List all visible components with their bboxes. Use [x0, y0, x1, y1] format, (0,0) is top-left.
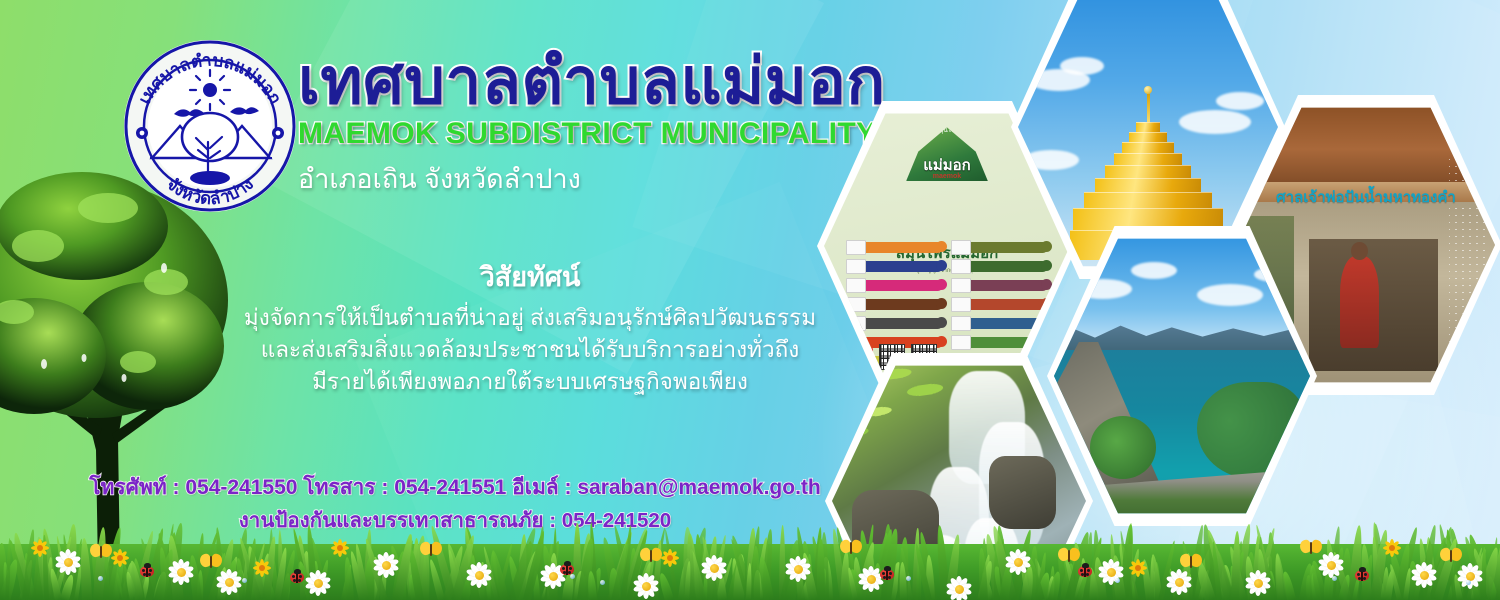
- grass-blade: [752, 546, 760, 600]
- daisy-core: [177, 568, 186, 577]
- daisy-core: [794, 565, 803, 574]
- yellow-flower-core: [259, 565, 265, 571]
- pagoda-caption-line2: บ้านทุ่: [1240, 4, 1268, 15]
- daisy-flower: [696, 550, 732, 586]
- ladybug-spot: [1364, 573, 1367, 576]
- daisy-flower: [631, 571, 661, 600]
- poster-brand-sub: maemok: [933, 173, 961, 180]
- ladybug-spot: [149, 569, 152, 572]
- daisy-core: [225, 578, 234, 587]
- daisy-core: [1175, 578, 1184, 587]
- ladybug-spot: [1363, 577, 1366, 580]
- dew-drop: [242, 578, 247, 583]
- daisy-flower: [786, 557, 810, 581]
- ladybug-icon: [1078, 566, 1092, 577]
- ladybug-icon: [290, 572, 304, 583]
- ladybug-spot: [888, 576, 891, 579]
- municipality-banner: เทศบาลตำบลแม่มอก จังหวัดลำปาง เทศบาลตำบล…: [0, 0, 1500, 600]
- dew-drop: [1466, 580, 1471, 585]
- butterfly-body: [650, 550, 652, 562]
- ladybug-icon: [880, 569, 894, 580]
- daisy-flower: [1246, 571, 1270, 595]
- ladybug-spot: [882, 572, 885, 575]
- yellow-flower-core: [1135, 565, 1141, 571]
- daisy-core: [475, 571, 484, 580]
- daisy-core: [955, 585, 964, 594]
- butterfly-icon: [640, 548, 662, 564]
- ladybug-icon: [1355, 570, 1369, 581]
- vision-line-1: มุ่งจัดการให้เป็นตำบลที่น่าอยู่ ส่งเสริม…: [230, 302, 830, 334]
- butterfly-icon: [840, 540, 862, 556]
- pagoda-caption-line3: อำเภ: [1240, 15, 1268, 25]
- ladybug-spot: [563, 571, 566, 574]
- ladybug-spot: [889, 572, 892, 575]
- ladybug-spot: [292, 575, 295, 578]
- daisy-flower: [56, 550, 80, 574]
- yellow-flower-core: [667, 555, 673, 561]
- yellow-flower-core: [37, 545, 43, 551]
- grass-blade: [816, 538, 824, 600]
- daisy-flower: [306, 571, 330, 595]
- ladybug-head: [884, 566, 891, 571]
- ladybug-spot: [562, 567, 565, 570]
- ladybug-spot: [148, 573, 151, 576]
- yellow-flower: [252, 558, 272, 578]
- ladybug-spot: [569, 567, 572, 570]
- poster-brand-top: สมุนไพร: [935, 125, 959, 135]
- butterfly-body: [430, 544, 432, 556]
- dew-drop: [1332, 576, 1337, 581]
- daisy-flower: [1006, 550, 1030, 574]
- yellow-flower: [30, 538, 50, 558]
- daisy-core: [1327, 561, 1336, 570]
- photo-collage: สมุนไพร แม่มอก maemok สมุนไพรแม่มอก สืบท…: [800, 0, 1500, 590]
- butterfly-icon: [90, 544, 112, 560]
- yellow-flower-core: [1389, 545, 1395, 551]
- ladybug-spot: [1080, 569, 1083, 572]
- daisy-core: [1107, 568, 1116, 577]
- butterfly-icon: [1440, 548, 1462, 564]
- yellow-flower: [1382, 538, 1402, 558]
- daisy-core: [867, 575, 876, 584]
- vision-block: วิสัยทัศน์ มุ่งจัดการให้เป็นตำบลที่น่าอย…: [230, 255, 830, 398]
- butterfly-body: [1450, 550, 1452, 562]
- yellow-flower: [110, 548, 130, 568]
- dew-drop: [570, 574, 575, 579]
- ladybug-head: [1082, 563, 1089, 568]
- ladybug-spot: [1086, 573, 1089, 576]
- daisy-flower: [1406, 557, 1442, 593]
- vision-heading: วิสัยทัศน์: [230, 255, 830, 298]
- butterfly-icon: [200, 554, 222, 570]
- ladybug-head: [294, 569, 301, 574]
- ladybug-spot: [299, 575, 302, 578]
- ladybug-head: [144, 563, 151, 568]
- yellow-flower: [1128, 558, 1148, 578]
- daisy-core: [382, 561, 391, 570]
- daisy-core: [549, 572, 558, 581]
- yellow-flower: [660, 548, 680, 568]
- butterfly-body: [1068, 550, 1070, 562]
- yellow-flower-core: [117, 555, 123, 561]
- butterfly-body: [1310, 542, 1312, 554]
- grass-flower-border: [0, 514, 1500, 600]
- daisy-core: [1420, 571, 1429, 580]
- butterfly-body: [210, 556, 212, 568]
- daisy-flower: [941, 571, 977, 600]
- butterfly-icon: [1180, 554, 1202, 570]
- daisy-core: [64, 558, 73, 567]
- shrine-banner-text: ศาลเจ้าพ่อปันน้ำมหาทองคำ: [1245, 185, 1488, 209]
- municipality-emblem: เทศบาลตำบลแม่มอก จังหวัดลำปาง: [122, 38, 298, 214]
- dew-drop: [1115, 578, 1120, 583]
- ladybug-spot: [143, 573, 146, 576]
- dew-drop: [600, 580, 605, 585]
- butterfly-body: [1190, 556, 1192, 568]
- ladybug-spot: [1357, 573, 1360, 576]
- ladybug-spot: [883, 576, 886, 579]
- vision-line-3: มีรายได้เพียงพอภายใต้ระบบเศรษฐกิจพอเพียง: [230, 366, 830, 398]
- yellow-flower: [330, 538, 350, 558]
- butterfly-icon: [1058, 548, 1080, 564]
- butterfly-icon: [1300, 540, 1322, 556]
- dew-drop: [906, 576, 911, 581]
- pagoda-caption-line1: วัดท: [1240, 0, 1268, 4]
- ladybug-spot: [298, 579, 301, 582]
- ladybug-spot: [1358, 577, 1361, 580]
- vision-line-2: และส่งเสริมสิ่งแวดล้อมประชาชนได้รับบริกา…: [230, 334, 830, 366]
- ladybug-spot: [142, 569, 145, 572]
- daisy-core: [710, 564, 719, 573]
- pagoda-caption: วัดท บ้านทุ่ อำเภ: [1240, 0, 1268, 25]
- daisy-flower: [1096, 557, 1126, 587]
- yellow-flower-core: [337, 545, 343, 551]
- butterfly-icon: [420, 542, 442, 558]
- dew-drop: [98, 576, 103, 581]
- butterfly-body: [100, 546, 102, 558]
- contact-line-phone-fax-email: โทรศัพท์ : 054-241550 โทรสาร : 054-24155…: [60, 472, 850, 505]
- ladybug-spot: [1087, 569, 1090, 572]
- daisy-flower: [461, 557, 497, 593]
- daisy-core: [642, 582, 651, 591]
- ladybug-head: [564, 561, 571, 566]
- ladybug-icon: [140, 566, 154, 577]
- daisy-core: [314, 579, 323, 588]
- daisy-flower: [371, 550, 401, 580]
- daisy-flower: [166, 557, 196, 587]
- ladybug-head: [1359, 567, 1366, 572]
- daisy-core: [1254, 579, 1263, 588]
- ladybug-spot: [1081, 573, 1084, 576]
- ladybug-spot: [293, 579, 296, 582]
- butterfly-body: [850, 542, 852, 554]
- daisy-core: [1014, 558, 1023, 567]
